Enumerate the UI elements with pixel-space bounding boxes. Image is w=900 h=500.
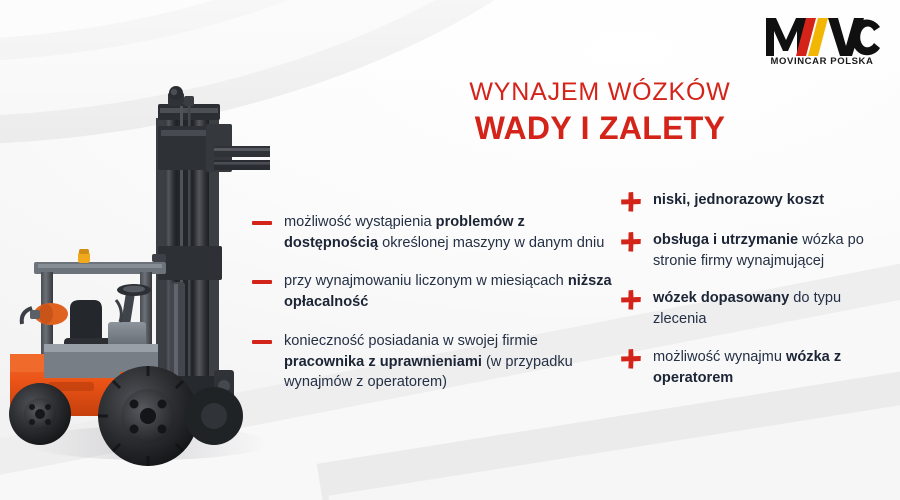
heading-block: WYNAJEM WÓZKÓW WADY I ZALETY	[330, 78, 870, 147]
advantages-list: niski, jednorazowy koszt obsługa i utrzy…	[620, 190, 892, 388]
orange-forklift-photo	[8, 86, 270, 474]
red-plus-icon	[620, 289, 642, 311]
list-item: możliwość wynajmu wózka z operatorem	[620, 347, 892, 388]
mvc-logo-mark	[762, 14, 882, 58]
slide-canvas: MOVINCAR POLSKA WYNAJEM WÓZKÓW WADY I ZA…	[0, 0, 900, 500]
red-plus-icon	[620, 191, 642, 213]
red-plus-icon	[620, 348, 642, 370]
logo-caption: MOVINCAR POLSKA	[762, 56, 882, 67]
list-item: przy wynajmowaniu liczonym w miesiącach …	[252, 271, 612, 312]
disadvantage-text-2: przy wynajmowaniu liczonym w miesiącach …	[284, 271, 612, 312]
list-item: obsługa i utrzymanie wózka po stronie fi…	[620, 230, 892, 271]
list-item: wózek dopasowany do typu zlecenia	[620, 288, 892, 329]
list-item: niski, jednorazowy koszt	[620, 190, 892, 213]
red-plus-icon	[620, 231, 642, 253]
advantage-text-3: wózek dopasowany do typu zlecenia	[653, 288, 892, 329]
disadvantage-text-3: konieczność posiadania w swojej firmie p…	[284, 331, 612, 393]
list-item: konieczność posiadania w swojej firmie p…	[252, 331, 612, 393]
background-swoosh-4	[0, 0, 527, 74]
red-dash-icon	[252, 280, 272, 284]
heading-subtitle: WYNAJEM WÓZKÓW	[330, 78, 870, 107]
disadvantage-text-1: możliwość wystąpienia problemów z dostęp…	[284, 212, 612, 253]
advantage-text-2: obsługa i utrzymanie wózka po stronie fi…	[653, 230, 892, 271]
list-item: możliwość wystąpienia problemów z dostęp…	[252, 212, 612, 253]
advantage-text-1: niski, jednorazowy koszt	[653, 190, 824, 211]
company-logo: MOVINCAR POLSKA	[762, 14, 882, 74]
red-dash-icon	[252, 221, 272, 225]
red-dash-icon	[252, 340, 272, 344]
page-title: WADY I ZALETY	[330, 110, 870, 147]
advantage-text-4: możliwość wynajmu wózka z operatorem	[653, 347, 892, 388]
disadvantages-list: możliwość wystąpienia problemów z dostęp…	[252, 212, 612, 393]
